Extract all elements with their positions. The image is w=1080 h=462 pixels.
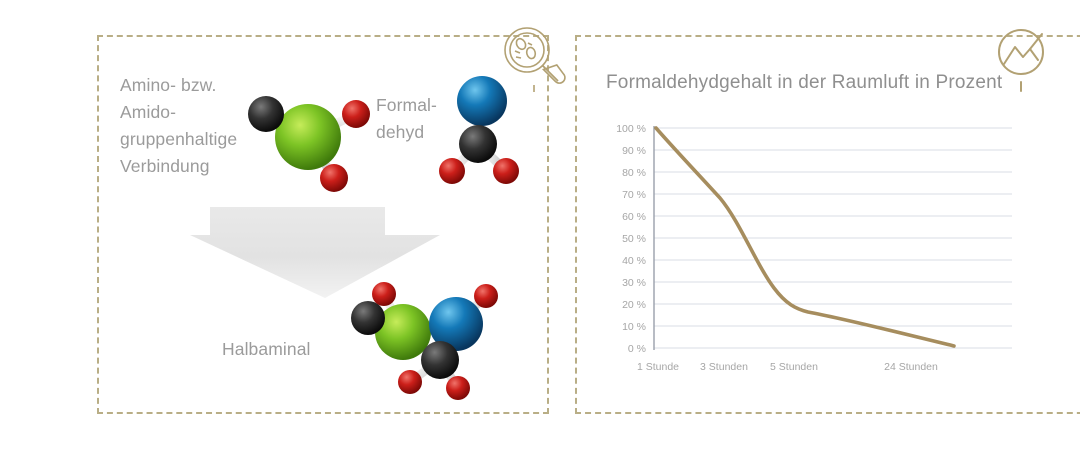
x-tick-label: 1 Stunde (637, 361, 679, 373)
trend-chart-icon (988, 22, 1060, 94)
y-tick-label: 70 % (622, 189, 646, 201)
chart-data-line (656, 128, 954, 346)
chart-y-tick-labels: 100 % 90 % 80 % 70 % 60 % 50 % 40 % 30 %… (616, 123, 646, 355)
amino-compound-molecule (238, 82, 388, 197)
y-tick-label: 100 % (616, 123, 646, 135)
y-tick-label: 60 % (622, 211, 646, 223)
x-tick-label: 3 Stunden (700, 361, 748, 373)
magnifier-molecule-icon (498, 22, 570, 94)
y-tick-label: 50 % (622, 233, 646, 245)
x-tick-label: 24 Stunden (884, 361, 938, 373)
halbaminal-molecule (328, 272, 508, 402)
chart-gridlines (654, 128, 1012, 348)
y-tick-label: 20 % (622, 299, 646, 311)
y-tick-label: 90 % (622, 145, 646, 157)
y-tick-label: 10 % (622, 321, 646, 333)
y-tick-label: 40 % (622, 255, 646, 267)
y-tick-label: 80 % (622, 167, 646, 179)
chart-x-tick-labels: 1 Stunde 3 Stunden 5 Stunden 24 Stunden (637, 361, 938, 373)
line-chart: 100 % 90 % 80 % 70 % 60 % 50 % 40 % 30 %… (596, 118, 1016, 383)
chart-title: Formaldehydgehalt in der Raumluft in Pro… (606, 72, 1026, 94)
y-tick-label: 0 % (628, 343, 646, 355)
y-tick-label: 30 % (622, 277, 646, 289)
x-tick-label: 5 Stunden (770, 361, 818, 373)
